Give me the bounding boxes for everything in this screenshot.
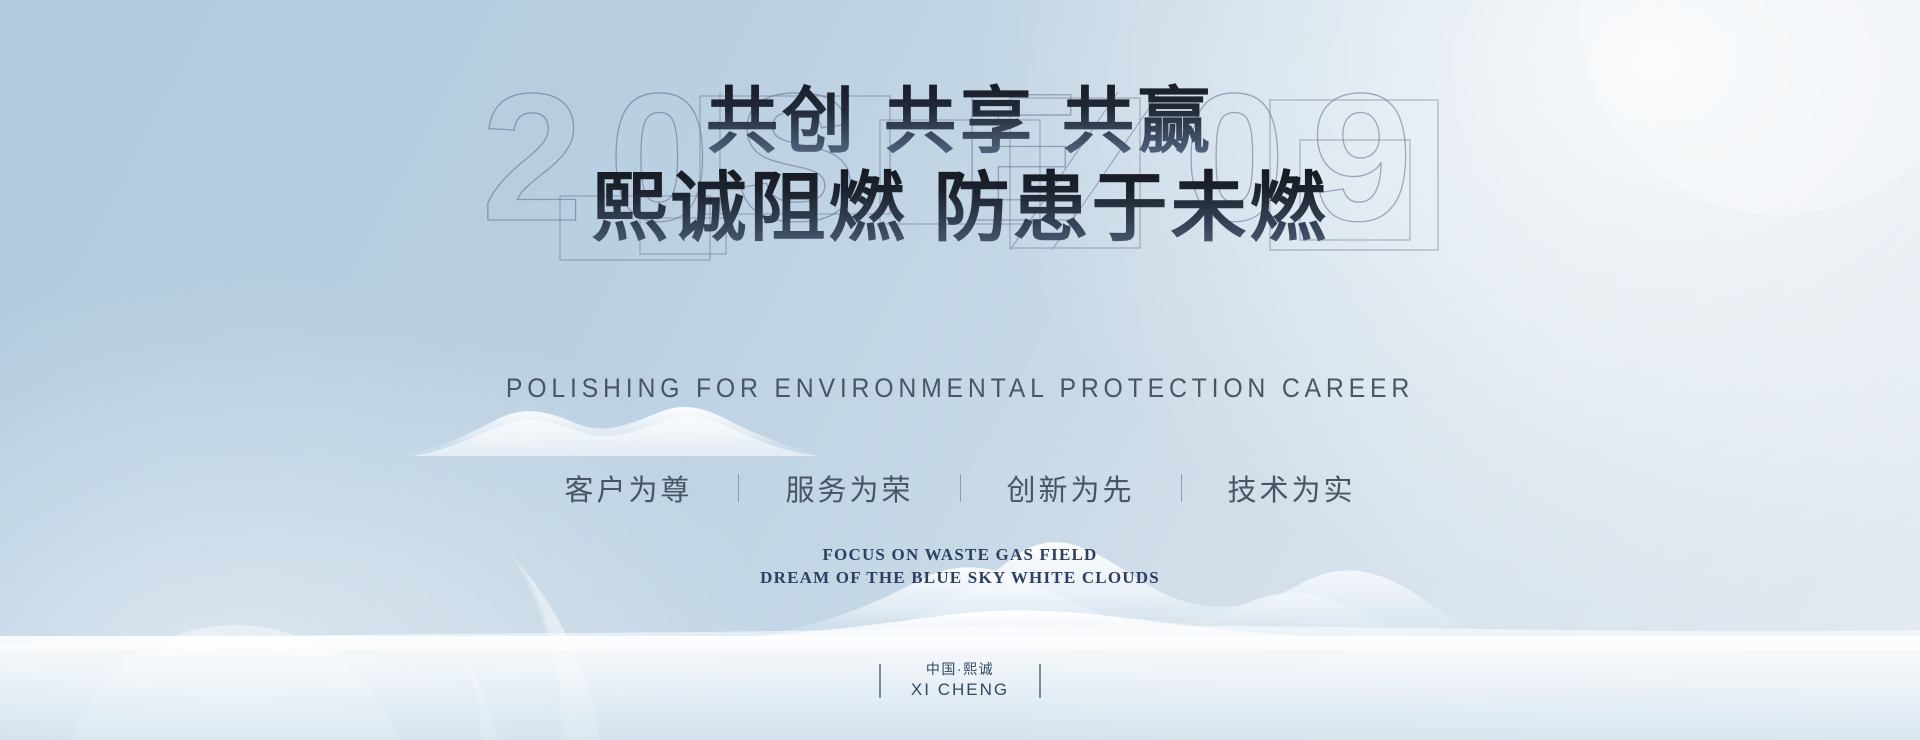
phrase-item-4: 技术为实 <box>1228 467 1356 509</box>
phrase-item-3: 创新为先 <box>1007 467 1135 509</box>
phrase-separator <box>1181 474 1182 502</box>
promo-banner: 20S E 09 <box>0 0 1920 740</box>
english-tagline: POLISHING FOR ENVIRONMENTAL PROTECTION C… <box>77 373 1843 404</box>
headline-word-2: 共享 <box>884 82 1036 162</box>
horizon-line <box>0 636 1920 637</box>
headline-line-1: 共创共享共赢 <box>0 82 1920 162</box>
headline-word-5: 防患于未燃 <box>934 167 1329 251</box>
headline-word-4: 熙诚阻燃 <box>592 167 908 251</box>
headline-block: 共创共享共赢 熙诚阻燃防患于未燃 <box>0 82 1920 252</box>
phrase-item-1: 客户为尊 <box>564 467 692 509</box>
headline-word-1: 共创 <box>706 82 858 162</box>
logo-bar-left <box>879 664 881 698</box>
headline-word-3: 共赢 <box>1062 82 1214 162</box>
phrase-separator <box>960 474 961 502</box>
serif-mini-lines: FOCUS ON WASTE GAS FIELD DREAM OF THE BL… <box>0 543 1920 589</box>
mini-line-2: DREAM OF THE BLUE SKY WHITE CLOUDS <box>0 566 1920 589</box>
phrase-separator <box>738 474 739 502</box>
logo-bar-right <box>1039 664 1041 698</box>
brand-logo: 中国·熙诚 XI CHENG <box>0 660 1920 701</box>
logo-text: 中国·熙诚 XI CHENG <box>911 660 1009 701</box>
phrase-item-2: 服务为荣 <box>785 467 913 509</box>
logo-name-cn: 中国·熙诚 <box>911 660 1009 679</box>
logo-name-en: XI CHENG <box>911 679 1009 701</box>
headline-line-2: 熙诚阻燃防患于未燃 <box>0 166 1920 252</box>
mini-line-1: FOCUS ON WASTE GAS FIELD <box>0 543 1920 566</box>
value-phrases: 客户为尊 服务为荣 创新为先 技术为实 <box>0 467 1920 509</box>
